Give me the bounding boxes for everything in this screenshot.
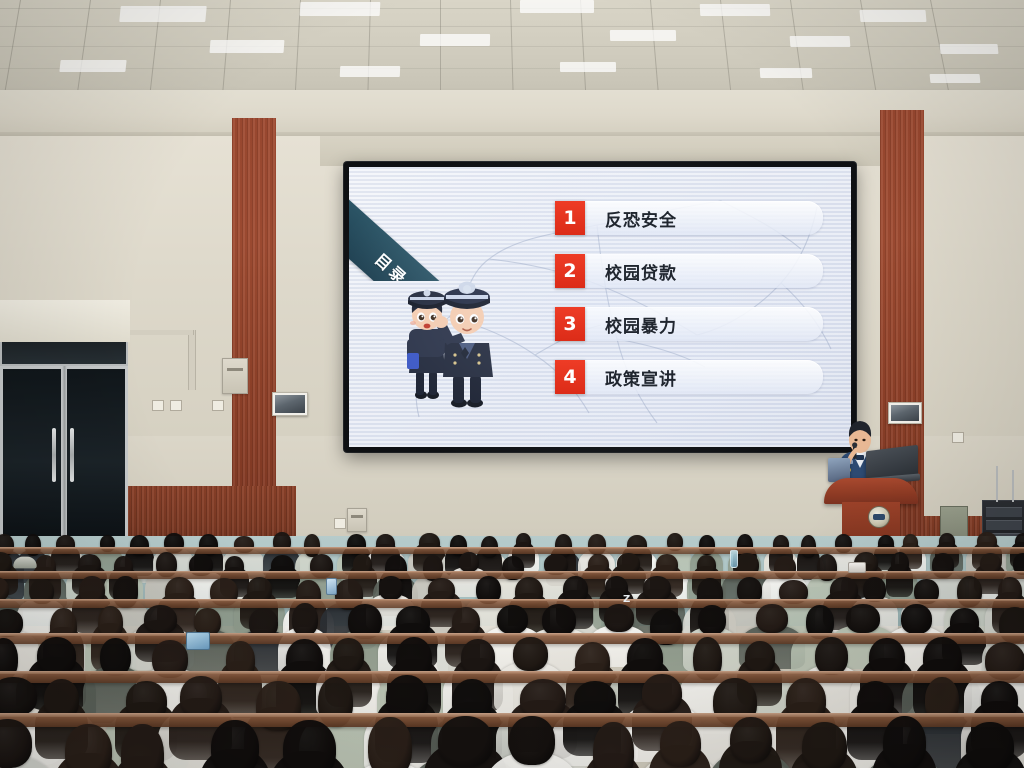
- police-mascots-icon: [385, 267, 501, 417]
- wall-outlet-right[interactable]: [952, 432, 964, 443]
- audience-member-head: [459, 552, 479, 572]
- audience-member-head: [660, 721, 701, 767]
- contents-item-number: 3: [555, 307, 585, 341]
- audience-member-head: [513, 637, 548, 671]
- projection-screen: CONTENTS 目录: [344, 162, 856, 452]
- contents-item-number: 1: [555, 201, 585, 235]
- auditorium-photo: CONTENTS 目录: [0, 0, 1024, 768]
- audience-member-head: [745, 641, 775, 674]
- ceiling-grid-line: [0, 26, 1024, 27]
- audience-member-head: [37, 637, 76, 675]
- ceiling-grid-line: [510, 0, 514, 96]
- audience-member-head: [497, 605, 528, 634]
- bench-edge: [0, 713, 1024, 717]
- contents-item: 3 校园暴力: [555, 307, 823, 341]
- audience-member-head: [283, 720, 336, 768]
- audience-member-head: [883, 716, 926, 768]
- contents-item: 4 政策宣讲: [555, 360, 823, 394]
- audience-member-head: [604, 604, 634, 632]
- ceiling-light-panel: [560, 62, 616, 72]
- ceiling-grid-line: [4, 0, 21, 96]
- presentation-slide: CONTENTS 目录: [349, 167, 851, 447]
- wall-outlet[interactable]: [152, 400, 164, 411]
- contents-item-label: 政策宣讲: [605, 365, 677, 390]
- ceiling-light-panel: [59, 60, 126, 72]
- ceiling-light-panel: [760, 68, 813, 78]
- audience-member-head: [756, 604, 788, 633]
- ceiling-grid-line: [440, 0, 441, 96]
- audience-member-head: [966, 722, 1014, 768]
- framed-photo-left: [272, 392, 308, 416]
- audience-member-head: [211, 720, 259, 768]
- audience-member-head: [333, 638, 364, 673]
- water-bottle: [730, 550, 738, 568]
- antenna: [996, 466, 998, 502]
- ceiling-light-panel: [939, 44, 998, 54]
- audience-member-head: [0, 677, 37, 716]
- door-mullion: [62, 366, 67, 540]
- tablet-device[interactable]: [186, 632, 210, 650]
- wall-outlet[interactable]: [170, 400, 182, 411]
- bench-edge: [0, 599, 1024, 601]
- contents-item: 2 校园贷款: [555, 254, 823, 288]
- ceiling-grid-line: [650, 0, 659, 96]
- contents-item-label: 校园暴力: [605, 312, 677, 337]
- ceiling-light-panel: [300, 2, 381, 16]
- contents-item-label: 反恐安全: [605, 206, 677, 231]
- antenna: [1012, 470, 1014, 502]
- ceiling-light-panel: [520, 0, 594, 13]
- ceiling-grid-line: [0, 46, 1024, 47]
- ceiling: [0, 0, 1024, 96]
- bench-edge: [0, 571, 1024, 573]
- audience-member-head: [698, 605, 726, 635]
- baseball-cap: [13, 557, 36, 569]
- audience-member-head: [144, 605, 177, 634]
- audience-member-head: [846, 604, 880, 633]
- audience-member-head: [642, 674, 682, 713]
- ceiling-soffit: [0, 90, 1024, 136]
- bench-edge: [0, 671, 1024, 674]
- door-handle-left[interactable]: [52, 428, 56, 482]
- contents-list: 1 反恐安全 2 校园贷款 3 校园暴力 4 政策宣讲: [555, 201, 823, 413]
- mobile-phone[interactable]: [326, 578, 337, 595]
- wall-conduit: [188, 330, 196, 390]
- contents-ribbon: CONTENTS 目录: [349, 167, 497, 281]
- ceiling-grid-line: [790, 0, 804, 96]
- audience-member-head: [368, 717, 412, 768]
- bench-edge: [0, 547, 1024, 549]
- audience-member-head: [292, 603, 318, 636]
- contents-item: 1 反恐安全: [555, 201, 823, 235]
- audience-member-head: [815, 637, 848, 675]
- contents-item-label: 校园贷款: [605, 259, 677, 284]
- shirt-graphic: Z: [623, 594, 630, 605]
- audience-member-head: [438, 716, 493, 767]
- ceiling-light-panel: [420, 34, 490, 46]
- ceiling-light-panel: [930, 74, 981, 83]
- electrical-panel: [222, 358, 248, 394]
- ceiling-grid-line: [0, 68, 1024, 69]
- audience-area: Z: [0, 520, 1024, 768]
- ceiling-light-panel: [119, 6, 207, 22]
- door-handle-right[interactable]: [70, 428, 74, 482]
- contents-item-number: 4: [555, 360, 585, 394]
- ceiling-light-panel: [340, 66, 400, 77]
- ceiling-light-panel: [700, 4, 771, 16]
- ceiling-light-panel: [860, 10, 927, 22]
- audience-member-head: [593, 722, 634, 768]
- audience-member-head: [901, 604, 932, 634]
- audience-member-head: [542, 604, 576, 636]
- ceiling-grid-line: [580, 0, 586, 96]
- audience-member-head: [65, 724, 112, 768]
- audience-member-head: [379, 576, 403, 600]
- wood-column-left: [232, 118, 276, 538]
- hair-clip: [848, 562, 866, 573]
- audience-member-head: [730, 717, 772, 763]
- podium-top: [824, 478, 918, 504]
- door-transom: [0, 340, 128, 366]
- audience-member-head: [802, 722, 847, 768]
- contents-item-number: 2: [555, 254, 585, 288]
- ceiling-light-panel: [790, 36, 851, 47]
- audience-member-head: [509, 716, 555, 765]
- ceiling-light-panel: [610, 30, 676, 41]
- entry-doors[interactable]: [0, 340, 128, 540]
- door-header-wall: [0, 300, 130, 342]
- ribbon-navy-band: 目录: [349, 167, 441, 281]
- wall-outlet[interactable]: [212, 400, 224, 411]
- audience-member-head: [643, 576, 671, 601]
- bench-edge: [0, 633, 1024, 636]
- ceiling-light-panel: [210, 40, 285, 53]
- ceiling-grid-line: [77, 0, 91, 96]
